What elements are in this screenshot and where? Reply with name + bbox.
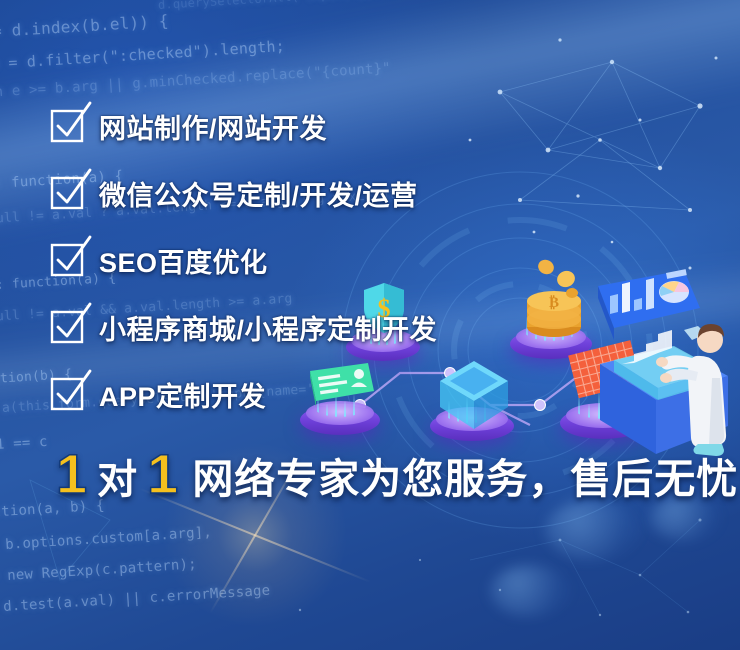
code-line: = d.index(b.el)) { — [0, 11, 169, 41]
checkbox-checked-icon — [52, 178, 82, 208]
checklist-item-label: 微信公众号定制/开发/运营 — [99, 174, 418, 213]
checklist-item[interactable]: 微信公众号定制/开发/运营 — [52, 165, 692, 221]
headline-slogan: 1 对 1 网络专家为您服务，售后无忧！ — [50, 446, 740, 502]
checklist-item-label: 网站制作/网站开发 — [99, 107, 327, 146]
checklist-item-label: SEO百度优化 — [99, 241, 268, 280]
code-line: e = d.filter(":checked").length; — [0, 37, 285, 73]
headline-middle-word: 对 — [93, 460, 141, 500]
checklist-item[interactable]: SEO百度优化 — [52, 232, 692, 288]
headline-number-first: 1 — [50, 446, 93, 502]
code-line: 1 == c — [0, 434, 48, 453]
checklist-item[interactable]: 网站制作/网站开发 — [52, 98, 692, 154]
headline-number-second: 1 — [141, 446, 184, 502]
checklist-item-label: 小程序商城/小程序定制开发 — [99, 308, 437, 347]
checkbox-checked-icon — [52, 379, 82, 409]
service-checklist: 网站制作/网站开发 微信公众号定制/开发/运营 SEO百度优化 小程序商城/小程… — [52, 98, 692, 433]
code-line: = new RegExp(c.pattern); — [0, 556, 197, 585]
checkbox-checked-icon — [52, 312, 82, 342]
checklist-item[interactable]: APP定制开发 — [52, 366, 692, 422]
code-line: d.querySelectorAll('input[type=checkbox]… — [158, 0, 507, 12]
code-line: = b.options.custom[a.arg], — [0, 524, 212, 554]
checkbox-checked-icon — [52, 111, 82, 141]
checkbox-checked-icon — [52, 245, 82, 275]
headline-rest-text: 网络专家为您服务，售后无忧！ — [184, 459, 740, 500]
checklist-item[interactable]: 小程序商城/小程序定制开发 — [52, 299, 692, 355]
promo-banner: d.querySelectorAll('input[type=checkbox]… — [0, 0, 740, 650]
code-line: n d.test(a.val) || c.errorMessage — [0, 583, 271, 616]
checklist-item-label: APP定制开发 — [99, 375, 266, 414]
